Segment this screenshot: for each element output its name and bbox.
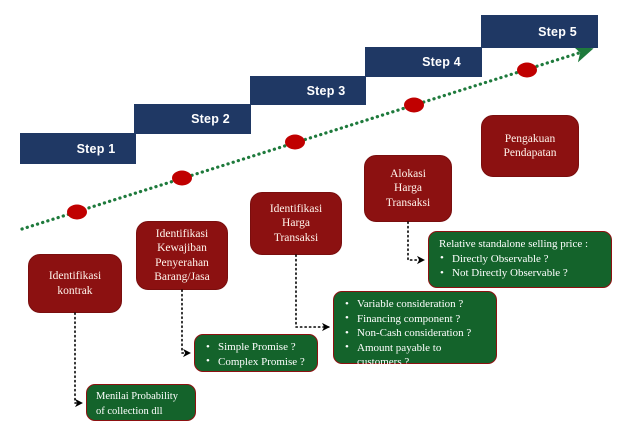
trend-marker-3 — [285, 135, 305, 150]
red-box-2-text: IdentifikasiKewajibanPenyerahanBarang/Ja… — [154, 227, 210, 285]
red-box-alokasi-harga-transaksi[interactable]: AlokasiHargaTransaksi — [364, 155, 452, 222]
step-box-4[interactable]: Step 4 — [365, 47, 482, 77]
green-box-list: Variable consideration ?Financing compon… — [343, 297, 488, 370]
green-box-list-item: Amount payable to customers ? — [343, 341, 488, 370]
green-box-list-item: Simple Promise ? — [204, 340, 309, 355]
green-box-list: Simple Promise ?Complex Promise ? — [204, 340, 309, 369]
green-box-standalone-selling-price[interactable]: Relative standalone selling price :Direc… — [428, 231, 612, 288]
red-box-1-text: Identifikasikontrak — [49, 269, 101, 298]
step-5-label: Step 5 — [538, 25, 577, 39]
green-box-promise-types[interactable]: Simple Promise ?Complex Promise ? — [194, 334, 318, 372]
green-box-intro: Relative standalone selling price : — [439, 237, 603, 252]
trend-marker-5 — [517, 63, 537, 78]
green-box-list-item: Variable consideration ? — [343, 297, 488, 312]
red-box-identifikasi-harga-transaksi[interactable]: IdentifikasiHargaTransaksi — [250, 192, 342, 255]
trend-marker-4 — [404, 98, 424, 113]
green-box-transaction-price-considerations[interactable]: Variable consideration ?Financing compon… — [333, 291, 497, 364]
trend-marker-1 — [67, 205, 87, 220]
green-box-list: Directly Observable ?Not Directly Observ… — [438, 252, 603, 281]
step-1-label: Step 1 — [77, 142, 116, 156]
green-box-menilai-probability[interactable]: Menilai Probabilityof collection dll — [86, 384, 196, 421]
green-box-plain-line: of collection dll — [96, 405, 187, 420]
green-box-list-item: Not Directly Observable ? — [438, 266, 603, 281]
step-box-2[interactable]: Step 2 — [134, 104, 251, 134]
connector-alokasi-to-standalone — [408, 222, 424, 260]
step-box-1[interactable]: Step 1 — [20, 133, 136, 164]
green-box-list-item: Complex Promise ? — [204, 355, 309, 370]
red-box-3-text: IdentifikasiHargaTransaksi — [270, 202, 322, 246]
step-4-label: Step 4 — [422, 55, 461, 69]
red-box-identifikasi-kewajiban-penyerahan[interactable]: IdentifikasiKewajibanPenyerahanBarang/Ja… — [136, 221, 228, 290]
step-box-3[interactable]: Step 3 — [250, 76, 366, 105]
connector-kontrak-to-probability — [75, 313, 82, 403]
green-box-list-item: Non-Cash consideration ? — [343, 326, 488, 341]
green-box-plain-line: Menilai Probability — [96, 390, 187, 405]
connector-kewajiban-to-promise — [182, 290, 190, 353]
green-box-list-item: Financing component ? — [343, 312, 488, 327]
connector-harga-to-considerations — [296, 255, 329, 327]
red-box-4-text: AlokasiHargaTransaksi — [386, 167, 430, 211]
green-box-list-item: Directly Observable ? — [438, 252, 603, 267]
trend-marker-2 — [172, 171, 192, 186]
red-box-5-text: PengakuanPendapatan — [503, 132, 556, 161]
step-3-label: Step 3 — [307, 84, 346, 98]
revenue-recognition-diagram: Step 1 Step 2 Step 3 Step 4 Step 5 Ident… — [0, 0, 623, 438]
step-2-label: Step 2 — [191, 112, 230, 126]
step-box-5[interactable]: Step 5 — [481, 15, 598, 48]
red-box-pengakuan-pendapatan[interactable]: PengakuanPendapatan — [481, 115, 579, 177]
red-box-identifikasi-kontrak[interactable]: Identifikasikontrak — [28, 254, 122, 313]
